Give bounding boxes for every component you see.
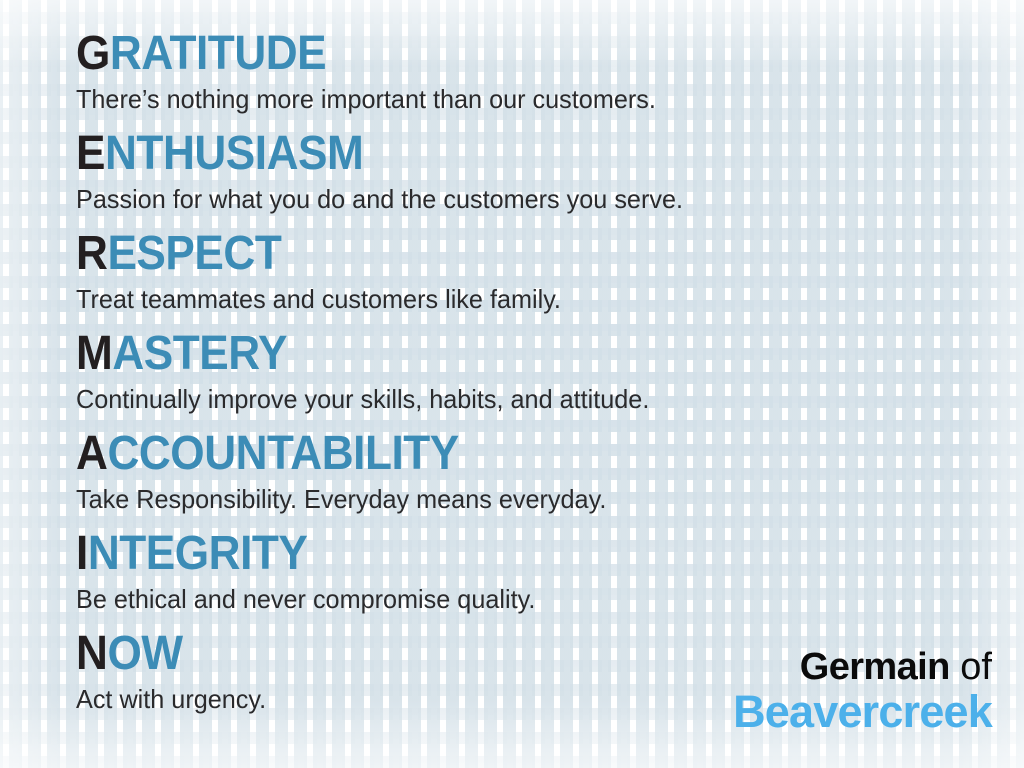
value-heading-rest: NTHUSIASM [105,127,363,180]
brand-name: Germain [800,646,950,688]
value-description-mastery: Continually improve your skills, habits,… [76,380,968,415]
value-description-integrity: Be ethical and never compromise quality. [76,580,968,615]
value-item-accountability: ACCOUNTABILITY Take Responsibility. Ever… [76,428,996,528]
value-item-gratitude: GRATITUDE There’s nothing more important… [76,28,996,128]
value-heading-respect: RESPECT [76,228,922,280]
brand-location: Beavercreek [733,688,992,736]
brand-logo: Germain of Beavercreek [733,646,992,736]
value-description-gratitude: There’s nothing more important than our … [76,80,968,115]
value-initial-letter: E [76,127,105,180]
value-heading-rest: NTEGRITY [88,527,308,580]
value-heading-integrity: INTEGRITY [76,528,922,580]
value-heading-accountability: ACCOUNTABILITY [76,428,922,480]
value-initial-letter: I [76,527,88,580]
value-heading-rest: OW [107,627,182,680]
value-heading-rest: ASTERY [112,327,287,380]
value-heading-rest: RATITUDE [110,27,326,80]
value-heading-mastery: MASTERY [76,328,922,380]
value-heading-rest: ESPECT [107,227,281,280]
brand-connector: of [960,646,992,688]
value-initial-letter: G [76,27,110,80]
value-initial-letter: R [76,227,107,280]
value-initial-letter: M [76,327,112,380]
value-initial-letter: A [76,427,107,480]
brand-logo-top-line: Germain of [733,646,992,688]
value-heading-gratitude: GRATITUDE [76,28,922,80]
value-item-respect: RESPECT Treat teammates and customers li… [76,228,996,328]
values-poster: GRATITUDE There’s nothing more important… [0,0,1024,768]
value-heading-rest: CCOUNTABILITY [107,427,458,480]
core-values-list: GRATITUDE There’s nothing more important… [76,28,996,728]
value-description-enthusiasm: Passion for what you do and the customer… [76,180,968,215]
value-description-accountability: Take Responsibility. Everyday means ever… [76,480,968,515]
value-item-mastery: MASTERY Continually improve your skills,… [76,328,996,428]
value-heading-enthusiasm: ENTHUSIASM [76,128,922,180]
value-description-respect: Treat teammates and customers like famil… [76,280,968,315]
value-item-integrity: INTEGRITY Be ethical and never compromis… [76,528,996,628]
value-initial-letter: N [76,627,107,680]
value-item-enthusiasm: ENTHUSIASM Passion for what you do and t… [76,128,996,228]
